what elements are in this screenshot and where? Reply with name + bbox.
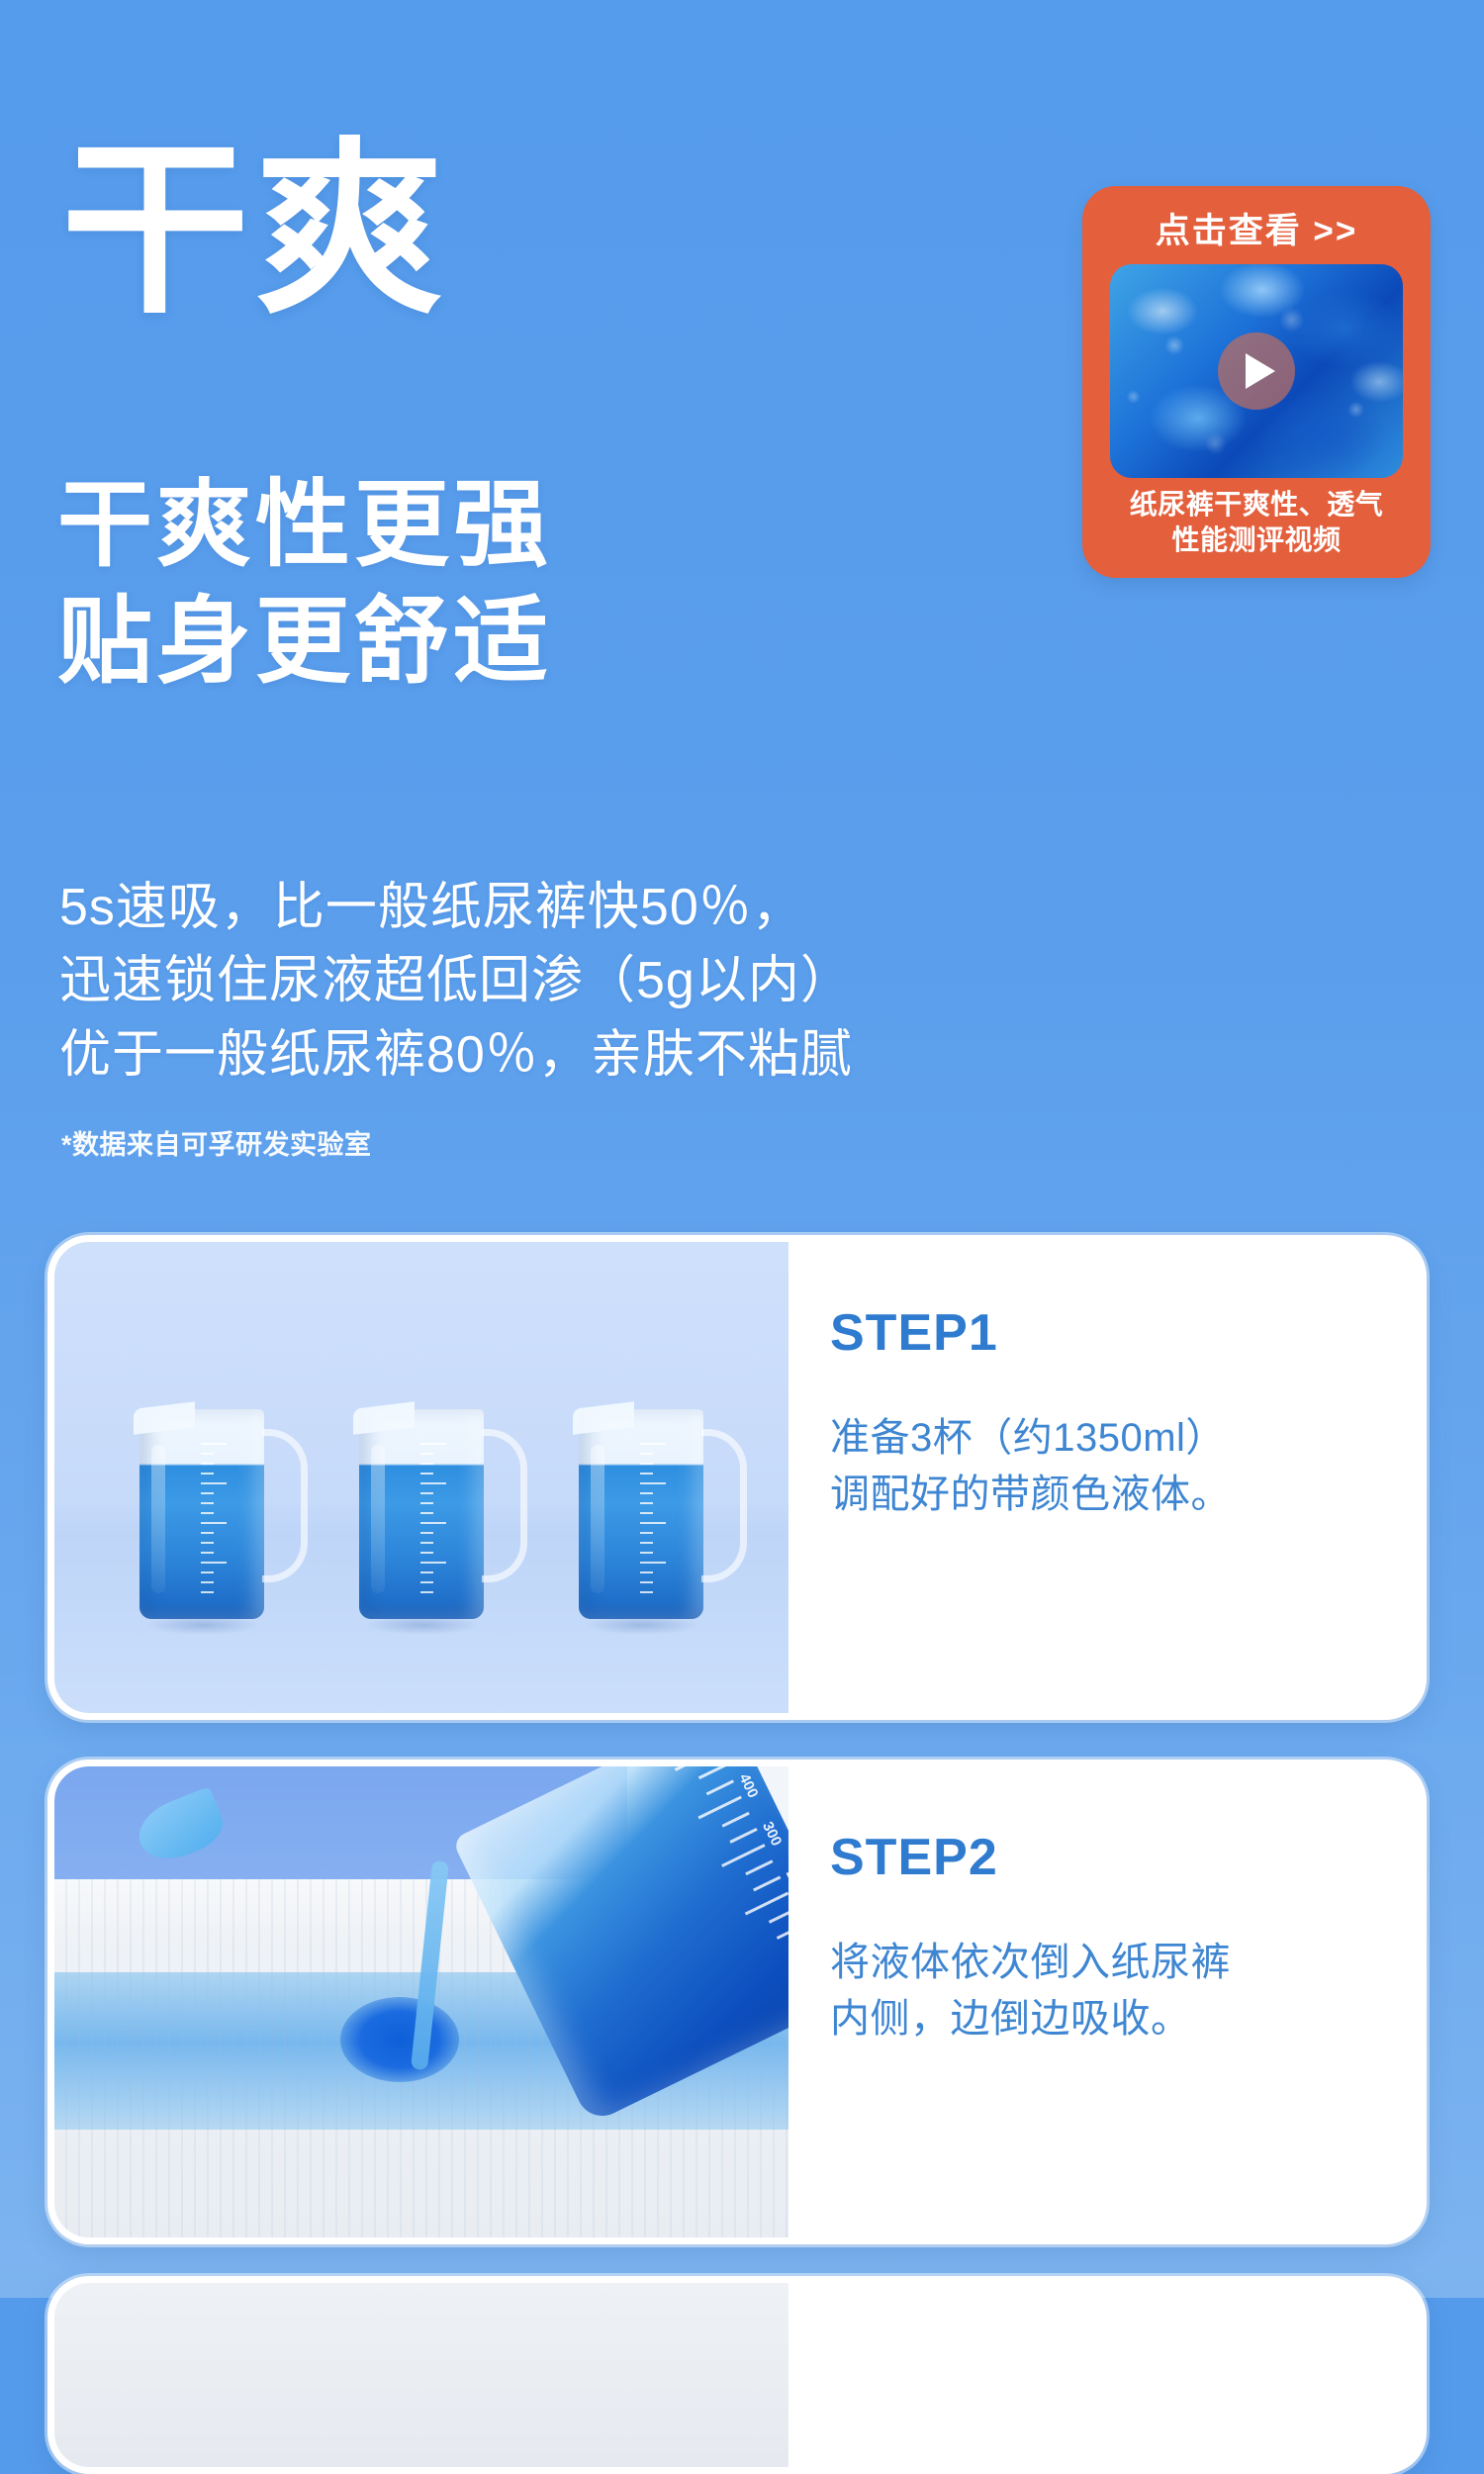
step-1-desc-line-2: 调配好的带颜色液体。 xyxy=(830,1467,1420,1523)
beaker-highlight xyxy=(151,1445,165,1593)
hero-subtitle-line-2: 贴身更舒适 xyxy=(57,584,552,701)
video-promo-card[interactable]: 点击查看 >> 纸尿裤干爽性、透气 性能测评视频 xyxy=(1082,186,1431,578)
step-2-text: STEP2 将液体依次倒入纸尿裤 内侧，边倒边吸收。 xyxy=(788,1766,1420,2237)
beaker-shadow xyxy=(145,1615,260,1635)
beaker-handle xyxy=(262,1429,308,1582)
video-thumbnail[interactable] xyxy=(1110,264,1403,478)
step-card-3-partial xyxy=(47,2276,1427,2474)
step-3-image-partial xyxy=(54,2283,788,2467)
step-2-desc-line-1: 将液体依次倒入纸尿裤 xyxy=(830,1935,1420,1991)
liquid-stain xyxy=(340,1997,459,2082)
play-icon[interactable] xyxy=(1218,333,1295,410)
step-card-2: 500mL 400 300 200 STEP2 将液体依次倒入纸尿裤 内侧，边倒… xyxy=(47,1760,1427,2244)
hero-body-line-3: 优于一般纸尿裤80％，亲肤不粘腻 xyxy=(59,1018,853,1092)
beaker-shadow xyxy=(365,1615,480,1635)
beaker-handle xyxy=(701,1429,747,1582)
play-triangle xyxy=(1246,353,1275,389)
step-2-description: 将液体依次倒入纸尿裤 内侧，边倒边吸收。 xyxy=(830,1935,1420,2047)
step-1-desc-line-1: 准备3杯（约1350ml） xyxy=(830,1410,1420,1467)
step-1-image-beakers xyxy=(54,1242,788,1713)
beaker-1 xyxy=(139,1409,264,1619)
hero-body-text: 5s速吸，比一般纸尿裤快50％， 迅速锁住尿液超低回渗（5g以内） 优于一般纸尿… xyxy=(59,871,853,1092)
beaker-2 xyxy=(359,1409,484,1619)
video-cta-label: 点击查看 >> xyxy=(1156,203,1358,253)
beaker-3 xyxy=(579,1409,703,1619)
step-3-text-partial xyxy=(788,2283,1420,2467)
step-1-text: STEP1 准备3杯（约1350ml） 调配好的带颜色液体。 xyxy=(788,1242,1420,1713)
page-root: 干爽 干爽性更强 贴身更舒适 5s速吸，比一般纸尿裤快50％， 迅速锁住尿液超低… xyxy=(0,0,1484,2298)
step-2-heading: STEP2 xyxy=(830,1828,1420,1887)
beaker-graduations xyxy=(640,1443,674,1601)
step-card-1: STEP1 准备3杯（约1350ml） 调配好的带颜色液体。 xyxy=(47,1235,1427,1720)
step-2-desc-line-2: 内侧，边倒边吸收。 xyxy=(830,1991,1420,2047)
beaker-highlight xyxy=(371,1445,385,1593)
hero-body-line-2: 迅速锁住尿液超低回渗（5g以内） xyxy=(59,944,853,1017)
step-2-image-pouring: 500mL 400 300 200 xyxy=(54,1766,788,2237)
page-title: 干爽 xyxy=(61,137,449,325)
video-caption: 纸尿裤干爽性、透气 性能测评视频 xyxy=(1130,487,1384,558)
beaker-handle xyxy=(482,1429,527,1582)
beaker-highlight xyxy=(591,1445,604,1593)
hero-subtitle-line-1: 干爽性更强 xyxy=(57,467,552,584)
hero-subtitle: 干爽性更强 贴身更舒适 xyxy=(57,467,552,701)
video-caption-line-1: 纸尿裤干爽性、透气 xyxy=(1130,487,1384,523)
data-source-footnote: *数据来自可孚研发实验室 xyxy=(61,1123,372,1162)
beaker-shadow xyxy=(585,1615,699,1635)
step-1-heading: STEP1 xyxy=(830,1303,1420,1363)
beaker-graduations xyxy=(420,1443,454,1601)
beaker-graduations xyxy=(201,1443,234,1601)
step-1-description: 准备3杯（约1350ml） 调配好的带颜色液体。 xyxy=(830,1410,1420,1523)
video-caption-line-2: 性能测评视频 xyxy=(1130,523,1384,558)
hero-body-line-1: 5s速吸，比一般纸尿裤快50％， xyxy=(59,871,853,944)
beaker-graduation-ticks xyxy=(647,1766,788,1993)
